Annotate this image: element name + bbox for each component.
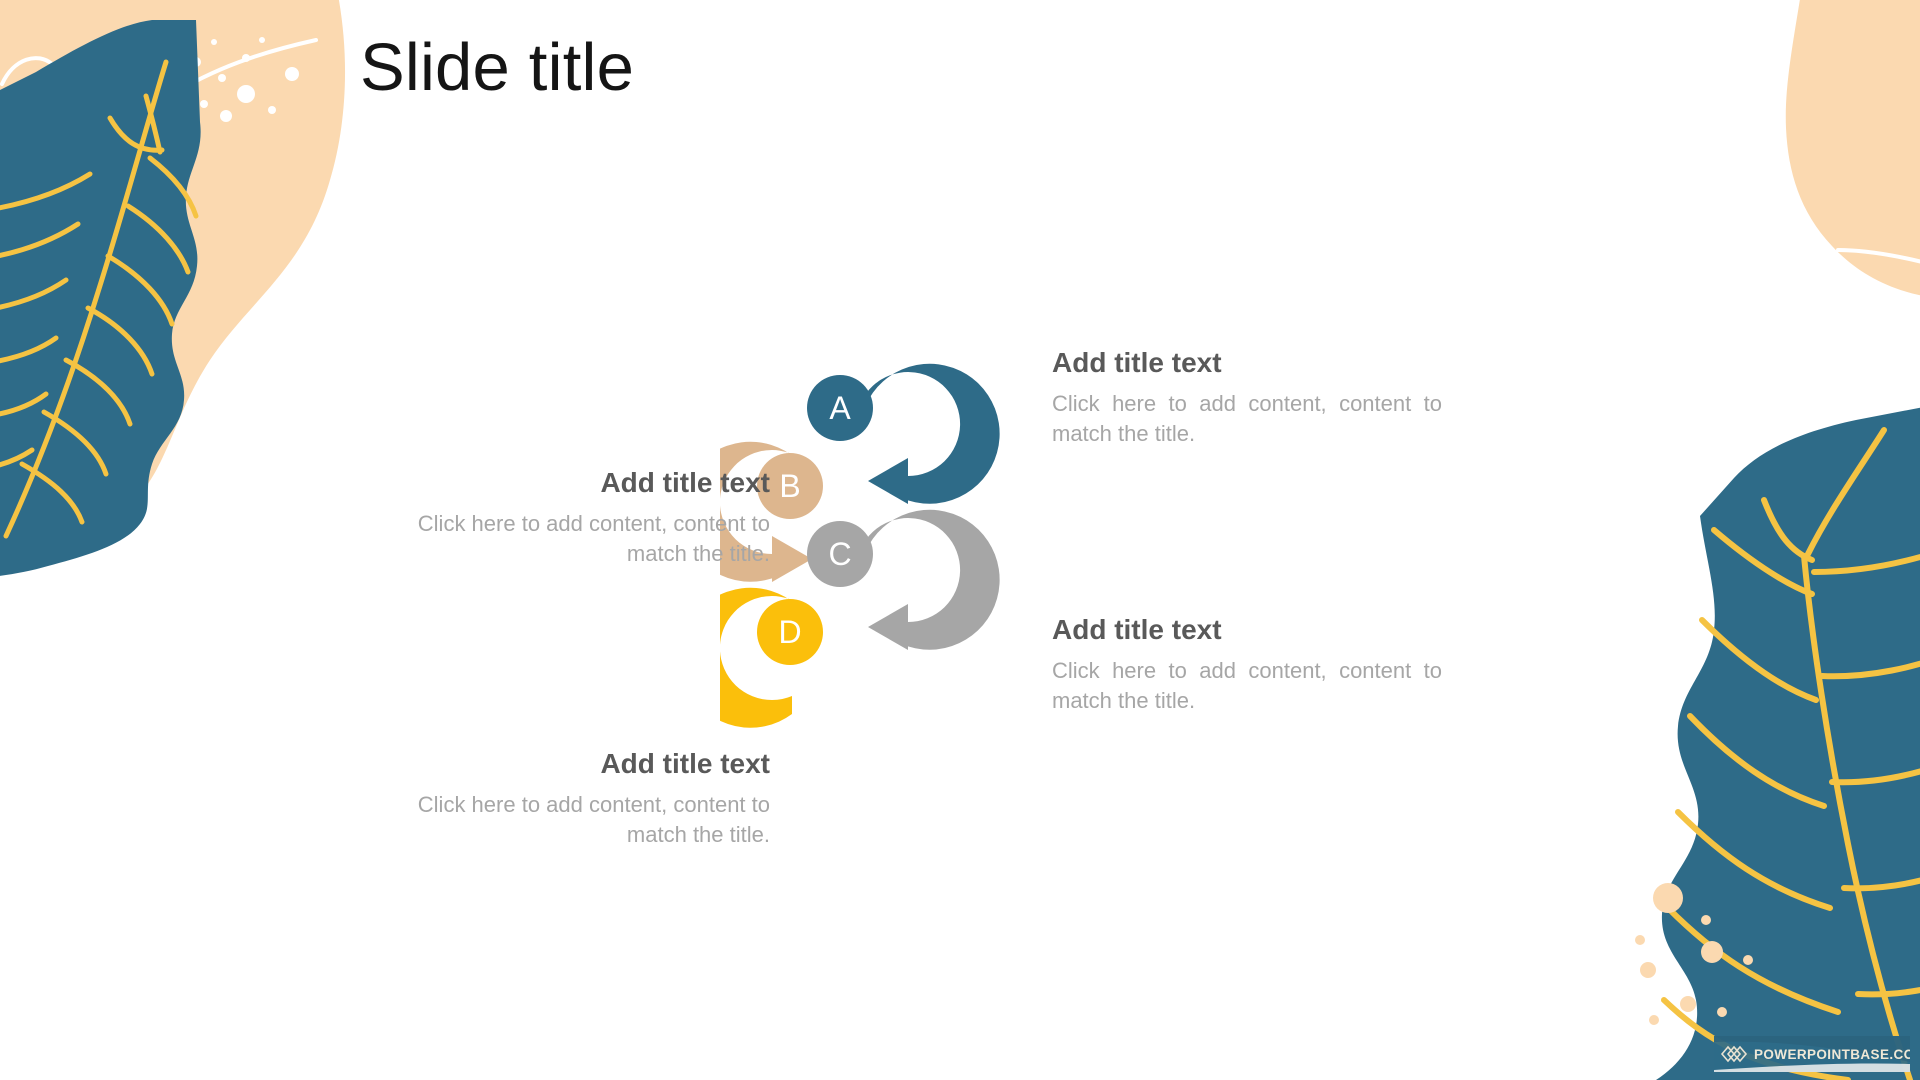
- text-block-d-title: Add title text: [380, 746, 770, 782]
- step-b-arrowhead: [772, 536, 812, 582]
- leaf-top-left: [0, 20, 201, 579]
- diagram-step-a[interactable]: A: [807, 364, 1000, 504]
- step-b-label: B: [779, 468, 800, 504]
- watermark[interactable]: POWERPOINTBASE.COM: [1714, 1036, 1910, 1072]
- watermark-text: POWERPOINTBASE.COM: [1754, 1047, 1910, 1062]
- text-block-a-body: Click here to add content, content to ma…: [1052, 389, 1442, 450]
- text-block-c-title: Add title text: [1052, 612, 1442, 648]
- text-block-c-body: Click here to add content, content to ma…: [1052, 656, 1442, 717]
- peach-blob-top-right: [1786, 0, 1920, 300]
- step-a-label: A: [829, 390, 851, 426]
- text-block-b-title: Add title text: [380, 465, 770, 501]
- peach-blob-top-left: [0, 0, 345, 536]
- step-a-arrowhead: [868, 458, 908, 504]
- dots-bottom-right: [1635, 883, 1753, 1025]
- step-c-label: C: [828, 536, 851, 572]
- diagram-step-d[interactable]: D: [720, 588, 823, 728]
- text-block-d[interactable]: Add title text Click here to add content…: [380, 746, 770, 851]
- wavy-line-top-right: [1838, 250, 1920, 272]
- text-block-a[interactable]: Add title text Click here to add content…: [1052, 345, 1442, 450]
- text-block-d-body: Click here to add content, content to ma…: [380, 790, 770, 851]
- text-block-b[interactable]: Add title text Click here to add content…: [380, 465, 770, 570]
- step-d-label: D: [778, 614, 801, 650]
- text-block-c[interactable]: Add title text Click here to add content…: [1052, 612, 1442, 717]
- leaf-bottom-right: [1656, 400, 1920, 1080]
- diagram-step-c[interactable]: C: [807, 510, 1000, 650]
- wavy-line-top-left: [2, 40, 316, 183]
- step-c-arrowhead: [868, 604, 908, 650]
- text-block-a-title: Add title text: [1052, 345, 1442, 381]
- dots-top-left: [173, 37, 299, 122]
- text-block-b-body: Click here to add content, content to ma…: [380, 509, 770, 570]
- process-diagram: A B C D: [720, 320, 1060, 920]
- page-title: Slide title: [360, 30, 634, 105]
